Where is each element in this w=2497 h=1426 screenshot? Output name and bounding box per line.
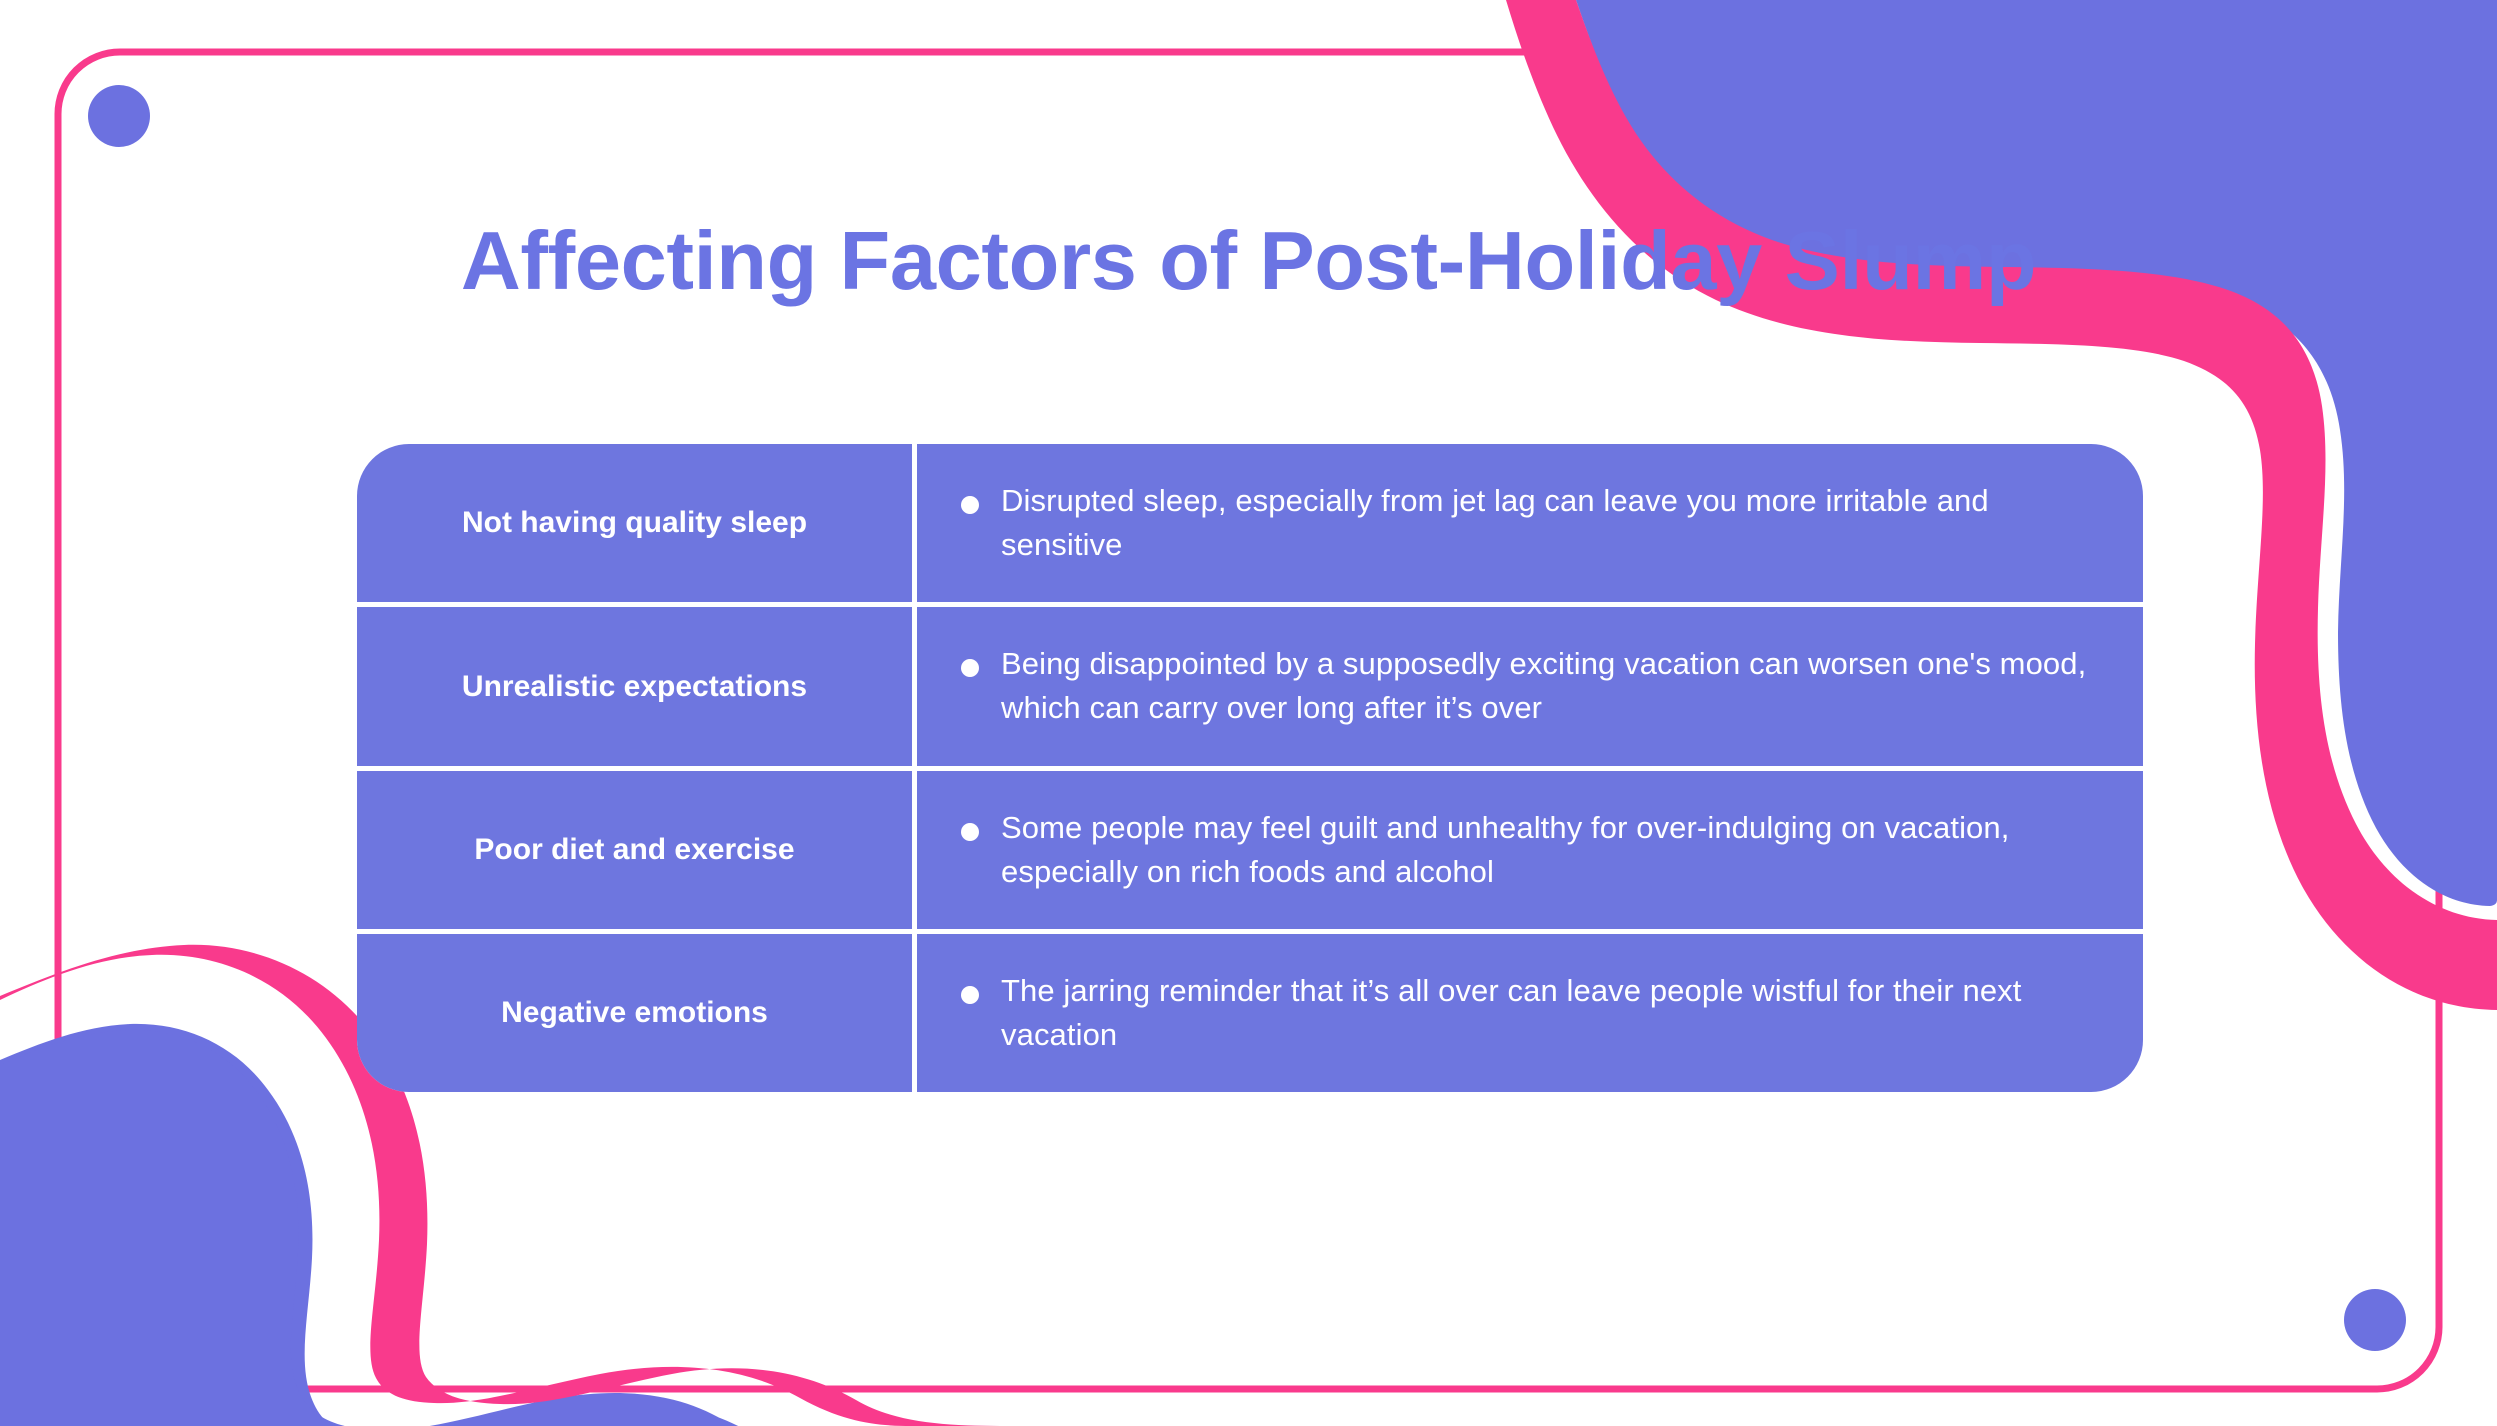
bullet-item: Some people may feel guilt and unhealthy…	[961, 806, 2099, 894]
table-row: Poor diet and exercise Some people may f…	[357, 771, 2143, 929]
bullet-item: Disrupted sleep, especially from jet lag…	[961, 479, 2099, 567]
factor-label: Poor diet and exercise	[474, 831, 794, 869]
factor-label-cell: Poor diet and exercise	[357, 771, 912, 929]
factor-label: Unrealistic expectations	[462, 668, 807, 706]
decorative-dot-bottom-right	[2344, 1289, 2406, 1351]
factor-description-cell: Some people may feel guilt and unhealthy…	[917, 771, 2143, 929]
table-row: Not having quality sleep Disrupted sleep…	[357, 444, 2143, 602]
decorative-dot-top-left	[88, 85, 150, 147]
factor-description: Being disappointed by a supposedly excit…	[1001, 642, 2099, 730]
factor-label-cell: Unrealistic expectations	[357, 607, 912, 765]
factor-label-cell: Not having quality sleep	[357, 444, 912, 602]
factor-description-cell: Disrupted sleep, especially from jet lag…	[917, 444, 2143, 602]
factor-description: Disrupted sleep, especially from jet lag…	[1001, 479, 2099, 567]
bullet-item: Being disappointed by a supposedly excit…	[961, 642, 2099, 730]
slide-canvas: Affecting Factors of Post-Holiday Slump …	[0, 0, 2497, 1426]
bullet-item: The jarring reminder that it’s all over …	[961, 969, 2099, 1057]
factor-description-cell: The jarring reminder that it’s all over …	[917, 934, 2143, 1092]
factor-label: Not having quality sleep	[462, 504, 807, 542]
bullet-dot-icon	[961, 659, 979, 677]
bullet-dot-icon	[961, 986, 979, 1004]
factor-label-cell: Negative emotions	[357, 934, 912, 1092]
factor-description: Some people may feel guilt and unhealthy…	[1001, 806, 2099, 894]
bullet-dot-icon	[961, 496, 979, 514]
factor-description: The jarring reminder that it’s all over …	[1001, 969, 2099, 1057]
table-row: Negative emotions The jarring reminder t…	[357, 934, 2143, 1092]
factor-description-cell: Being disappointed by a supposedly excit…	[917, 607, 2143, 765]
page-title: Affecting Factors of Post-Holiday Slump	[0, 215, 2497, 306]
bullet-dot-icon	[961, 823, 979, 841]
factor-label: Negative emotions	[501, 994, 768, 1032]
table-row: Unrealistic expectations Being disappoin…	[357, 607, 2143, 765]
factors-table: Not having quality sleep Disrupted sleep…	[357, 444, 2143, 1092]
